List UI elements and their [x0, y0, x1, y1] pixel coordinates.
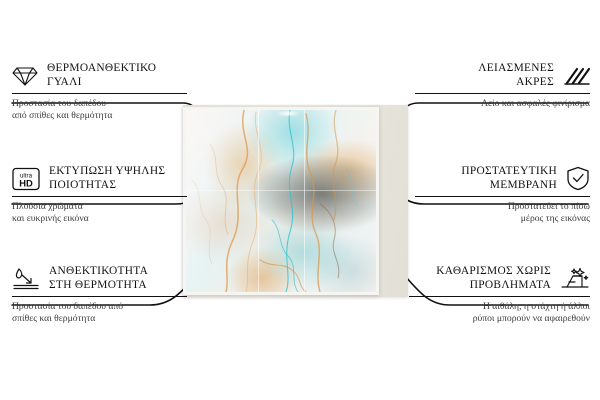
feature-high-quality-print: ultra HD ΕΚΤΥΠΩΣΗ ΥΨΗΛΗΣ ΠΟΙΟΤΗΤΑΣ Πλούσ… — [12, 165, 187, 226]
divider — [409, 296, 590, 297]
divider — [12, 93, 187, 94]
divider — [415, 196, 590, 197]
feature-description: Προστασία του δαπέδου από σπίθες και θερ… — [12, 98, 187, 122]
divider — [415, 93, 590, 94]
easy-clean-sparkle-icon — [560, 266, 590, 291]
feature-title: ΘΕΡΜΟΑΝΘΕΚΤΙΚΟ ΓΥΑΛΙ — [47, 62, 156, 89]
feature-description: Πλούσια χρώματα και ευκρινής εικόνα — [12, 201, 187, 225]
feature-protective-membrane: ΠΡΟΣΤΑΤΕΥΤΙΚΗ ΜΕΜΒΡΑΝΗ Προστατεύει το πί… — [415, 165, 590, 226]
divider — [12, 296, 187, 297]
feature-description: Η αιθάλη, η στάχτη ή άλλοι ρύποι μπορούν… — [409, 301, 590, 325]
feature-title: ΑΝΘΕΚΤΙΚΟΤΗΤΑ ΣΤΗ ΘΕΡΜΟΤΗΤΑ — [49, 265, 148, 292]
infographic-canvas: ΘΕΡΜΟΑΝΘΕΚΤΙΚΟ ΓΥΑΛΙ Προστασία του δαπέδ… — [0, 0, 600, 400]
feature-polished-edges: ΛΕΙΑΣΜΕΝΕΣ ΑΚΡΕΣ Λείο και ασφαλές φινίρι… — [415, 62, 590, 110]
reflection-line-horizontal — [186, 190, 376, 191]
ultra-hd-badge-icon: ultra HD — [12, 167, 40, 191]
feature-heat-resistant-glass: ΘΕΡΜΟΑΝΘΕΚΤΙΚΟ ΓΥΑΛΙ Προστασία του δαπέδ… — [12, 62, 187, 123]
feature-title: ΚΑΘΑΡΙΣΜΟΣ ΧΩΡΙΣ ΠΡΟΒΛΗΜΑΤΑ — [436, 265, 551, 292]
feature-title: ΛΕΙΑΣΜΕΝΕΣ ΑΚΡΕΣ — [478, 62, 554, 89]
product-artwork — [186, 110, 376, 292]
artwork-veins — [186, 110, 376, 292]
feature-description: Λείο και ασφαλές φινίρισμα — [415, 98, 590, 110]
diamond-icon — [12, 65, 38, 87]
feature-description: Προστατεύει το πίσω μέρος της εικόνας — [415, 201, 590, 225]
product-glass-panel — [183, 107, 379, 295]
feature-title: ΕΚΤΥΠΩΣΗ ΥΨΗΛΗΣ ΠΟΙΟΤΗΤΑΣ — [49, 165, 165, 192]
divider — [12, 196, 187, 197]
feature-title: ΠΡΟΣΤΑΤΕΥΤΙΚΗ ΜΕΜΒΡΑΝΗ — [461, 165, 557, 192]
reflection-line-vertical-2 — [304, 110, 305, 292]
ultra-hd-bottom-text: HD — [19, 177, 33, 188]
feature-description: Προστασία του δαπέδου από σπίθες και θερ… — [12, 301, 187, 325]
heat-resistance-icon — [12, 267, 40, 291]
reflection-line-vertical-1 — [258, 110, 259, 292]
feature-easy-cleaning: ΚΑΘΑΡΙΣΜΟΣ ΧΩΡΙΣ ΠΡΟΒΛΗΜΑΤΑ Η αιθάλη, η … — [409, 265, 590, 326]
feature-heat-durability: ΑΝΘΕΚΤΙΚΟΤΗΤΑ ΣΤΗ ΘΕΡΜΟΤΗΤΑ Προστασία το… — [12, 265, 187, 326]
product-image — [183, 105, 408, 297]
polished-edges-icon — [563, 65, 590, 87]
shield-check-icon — [566, 166, 590, 191]
